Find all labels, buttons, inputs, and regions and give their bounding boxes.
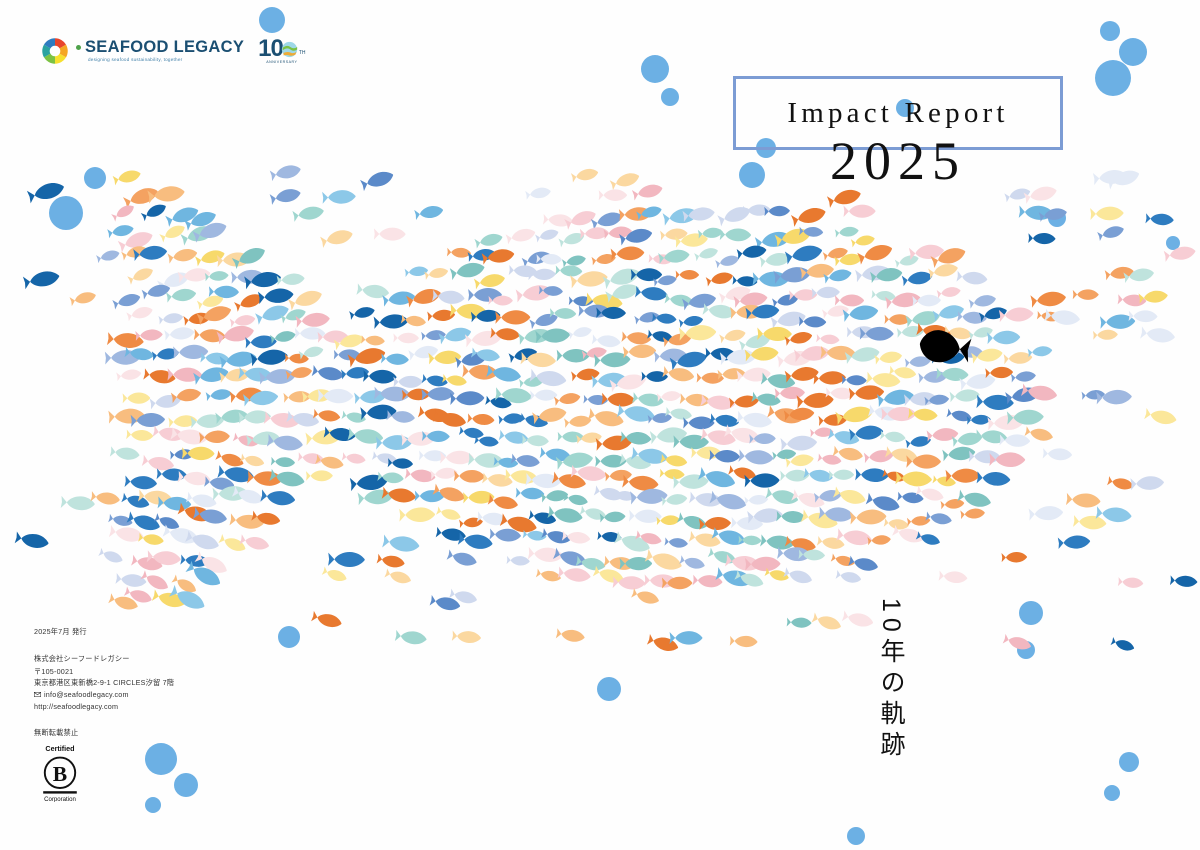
anniversary-word: ANNIVERSARY (266, 60, 297, 64)
fish (902, 270, 934, 287)
fish (126, 429, 153, 442)
fish (1105, 265, 1135, 281)
fish (1170, 575, 1198, 588)
bcorp-certification-logo: Certified B Corporation (36, 744, 84, 802)
fish (270, 163, 302, 182)
fish (1011, 370, 1037, 383)
fish (23, 269, 61, 290)
fish (395, 629, 428, 646)
fish (283, 390, 311, 403)
company-name: 株式会社シーフードレガシー (34, 653, 174, 665)
fish (271, 456, 295, 467)
fish (269, 187, 301, 206)
fish (564, 415, 592, 429)
fish (811, 612, 842, 632)
fish (98, 547, 124, 565)
color-wheel-icon (40, 36, 70, 66)
svg-text:Corporation: Corporation (44, 797, 76, 802)
fish (96, 248, 121, 263)
fish (116, 368, 142, 382)
fish (736, 410, 773, 430)
fish (960, 508, 985, 520)
fish (69, 290, 97, 307)
fish (450, 260, 486, 281)
fish (159, 222, 187, 243)
fish (599, 189, 627, 201)
fish (791, 205, 828, 228)
fish (320, 227, 354, 248)
fish (843, 304, 880, 323)
fish (629, 509, 662, 523)
globe-icon (281, 41, 298, 58)
fish (1107, 475, 1135, 491)
fish (535, 228, 560, 243)
fish (632, 182, 664, 201)
fish (897, 491, 924, 504)
svg-text:B: B (53, 762, 67, 786)
fish (393, 376, 422, 388)
fish (312, 364, 345, 382)
fish (679, 555, 706, 571)
logo-tagline: designing seafood sustainability, togeth… (88, 58, 244, 63)
fish (1043, 447, 1073, 460)
fish (828, 428, 861, 447)
fish (558, 431, 584, 442)
fish (817, 453, 842, 466)
fish (818, 414, 847, 427)
fish (277, 273, 305, 287)
fish (530, 389, 557, 401)
fish (851, 234, 876, 248)
fish (374, 314, 409, 330)
fish (601, 392, 635, 407)
fish (357, 488, 393, 506)
fish (255, 302, 291, 325)
fish (499, 429, 530, 445)
fish (322, 566, 349, 584)
fish (737, 244, 768, 260)
fish (516, 487, 545, 500)
fish (660, 468, 685, 480)
fish (408, 344, 439, 361)
fish (895, 254, 920, 269)
fish (498, 413, 524, 425)
fish (867, 534, 891, 545)
fish (842, 610, 875, 629)
fish (454, 470, 485, 483)
address: 東京都港区東新橋2-9-1 CIRCLES汐留 7階 (34, 677, 174, 689)
fish (816, 333, 840, 344)
logo-wordmark: SEAFOOD LEGACY (76, 39, 244, 56)
fish (1140, 326, 1176, 345)
fish (736, 367, 771, 383)
bcorp-icon: Certified B Corporation (36, 744, 84, 802)
fish (230, 314, 256, 328)
fish (939, 570, 968, 584)
fish (474, 232, 503, 250)
email-address[interactable]: info@seafoodlegacy.com (44, 689, 129, 701)
fish (258, 287, 294, 305)
fish (717, 204, 752, 227)
fish (109, 524, 145, 544)
page-title: Impact Report (787, 97, 1008, 130)
fish (1145, 213, 1174, 226)
fish (393, 333, 419, 344)
fish (1004, 351, 1033, 365)
fish (571, 167, 599, 183)
fish (115, 572, 147, 588)
fish (720, 228, 751, 241)
fish (126, 305, 154, 322)
fish (555, 265, 582, 277)
fish (1118, 576, 1144, 588)
fish (354, 389, 387, 404)
publish-date: 2025年7月 発行 (34, 627, 174, 637)
fish-school (15, 163, 1198, 654)
title-year: 2025 (733, 134, 1063, 188)
fish (715, 254, 740, 269)
fish (664, 537, 688, 549)
fish (107, 223, 134, 239)
fish (775, 386, 805, 399)
fish (925, 511, 952, 526)
fish (1130, 475, 1164, 490)
fish (238, 366, 273, 383)
fish (977, 471, 1011, 487)
fish (360, 168, 395, 191)
fish (399, 507, 435, 522)
fish (1118, 294, 1147, 307)
fish (738, 449, 774, 466)
fish (186, 491, 218, 510)
fish (112, 291, 142, 310)
fish (1030, 290, 1066, 309)
fish (405, 266, 429, 278)
fish (376, 553, 405, 569)
fish (446, 549, 478, 569)
fish (447, 247, 471, 258)
fish (644, 548, 683, 573)
fish (557, 566, 591, 584)
fish (61, 495, 96, 511)
fish (895, 470, 932, 487)
fish (937, 286, 962, 299)
fish (90, 490, 120, 505)
fish (950, 388, 980, 402)
fish (127, 265, 155, 285)
fish (1058, 535, 1091, 550)
fish (647, 633, 680, 654)
fish (1066, 492, 1101, 508)
fish (842, 375, 867, 386)
fish (835, 569, 862, 584)
fish (662, 365, 695, 383)
fish (111, 202, 136, 222)
website-url[interactable]: http://seafoodlegacy.com (34, 701, 174, 713)
anniversary-badge: 10 TH ANNIVERSARY (258, 38, 305, 65)
fish (167, 247, 198, 264)
fish (835, 294, 864, 306)
fish (164, 326, 195, 341)
seafood-legacy-logo: SEAFOOD LEGACY designing seafood sustain… (40, 36, 306, 66)
fish (424, 266, 449, 280)
fish (206, 388, 233, 402)
fish (928, 262, 959, 280)
fish (785, 243, 824, 265)
fish (349, 305, 376, 320)
fish (835, 226, 859, 238)
fish (360, 404, 397, 421)
fish (631, 588, 661, 607)
fish (556, 628, 586, 644)
fish (730, 635, 758, 647)
fish (1093, 329, 1118, 340)
fish (384, 568, 412, 586)
fish (1001, 552, 1027, 563)
fish (621, 331, 651, 346)
fish (342, 452, 367, 465)
fish (495, 310, 530, 325)
fish (744, 494, 768, 505)
fish (579, 505, 607, 522)
fish (292, 205, 325, 223)
fish (382, 534, 420, 554)
fish (719, 328, 747, 344)
fish (1073, 514, 1107, 530)
fish (536, 568, 562, 583)
fish (468, 452, 504, 469)
fish (328, 552, 365, 567)
fish (110, 446, 140, 462)
fish (1082, 389, 1106, 400)
fish (844, 205, 876, 218)
fish (706, 270, 734, 287)
fish (1028, 233, 1055, 245)
fish (710, 413, 740, 429)
footer-imprint: 2025年7月 発行 株式会社シーフードレガシー 〒105-0021 東京都港区… (34, 627, 174, 738)
fish (541, 489, 569, 503)
fish (124, 475, 157, 491)
fish (505, 226, 536, 245)
title-block: Impact Report 2025 (733, 76, 1063, 150)
fish (440, 451, 473, 465)
fish (240, 453, 265, 468)
fish (632, 391, 664, 408)
fish (322, 189, 356, 204)
fish (850, 509, 887, 526)
copyright-notice: 無断転載禁止 (34, 728, 174, 738)
fish (1029, 505, 1064, 521)
fish (1110, 637, 1135, 653)
fish (288, 287, 324, 311)
fish (141, 201, 168, 221)
anniversary-ordinal: TH (299, 50, 306, 56)
fish (298, 452, 325, 465)
fish (1144, 407, 1178, 426)
fish (260, 488, 296, 506)
fish (635, 285, 668, 302)
fish (467, 413, 494, 426)
fish (112, 168, 141, 186)
fish (15, 531, 50, 550)
fish (149, 393, 181, 410)
vertical-tagline: 10年の軌跡 (878, 598, 903, 762)
fish (452, 630, 482, 644)
fish (780, 435, 817, 452)
fish (969, 293, 997, 309)
fish (361, 335, 385, 346)
fish (436, 506, 462, 522)
fish (450, 391, 484, 406)
fish (817, 535, 845, 550)
fish (940, 498, 964, 510)
fish (218, 533, 247, 554)
fish (374, 228, 406, 241)
fish (195, 248, 226, 267)
fish (957, 489, 992, 509)
svg-text:Certified: Certified (45, 744, 74, 753)
fish (421, 387, 454, 402)
fish (1090, 206, 1124, 221)
fish (987, 330, 1020, 345)
email-row: info@seafoodlegacy.com (34, 689, 174, 701)
fish (609, 170, 640, 190)
fish (1097, 224, 1125, 242)
fish (871, 290, 896, 302)
fish (306, 470, 333, 481)
fish (677, 512, 709, 532)
fish (694, 246, 719, 262)
fish (459, 426, 485, 440)
logo-dot-icon (76, 45, 81, 50)
fish (592, 334, 621, 349)
fish (829, 470, 854, 481)
fish (166, 287, 197, 303)
fish (381, 353, 409, 366)
report-cover-page: SEAFOOD LEGACY designing seafood sustain… (0, 0, 1200, 850)
postal-code: 〒105-0021 (34, 666, 174, 678)
fish (107, 331, 144, 349)
fish (158, 312, 183, 325)
fish (787, 617, 812, 628)
anniversary-number: 10 (258, 38, 283, 60)
fish (908, 407, 938, 421)
fish (554, 391, 581, 406)
fish (525, 186, 551, 200)
fish (414, 204, 444, 220)
fish (884, 314, 910, 325)
envelope-icon (34, 692, 41, 697)
fish (529, 311, 559, 329)
fish (1073, 289, 1099, 300)
fish (664, 293, 694, 308)
fish (956, 270, 988, 286)
fish (506, 555, 530, 566)
fish (474, 272, 506, 290)
fish (509, 264, 538, 278)
fish (123, 392, 151, 403)
fish (1028, 345, 1053, 358)
fish (676, 270, 700, 280)
fish (611, 246, 645, 262)
fish (568, 325, 593, 339)
fish (605, 469, 633, 482)
fish (905, 435, 931, 449)
fish (311, 610, 343, 630)
fish (350, 473, 388, 492)
fish (630, 488, 668, 506)
fish (880, 430, 906, 443)
